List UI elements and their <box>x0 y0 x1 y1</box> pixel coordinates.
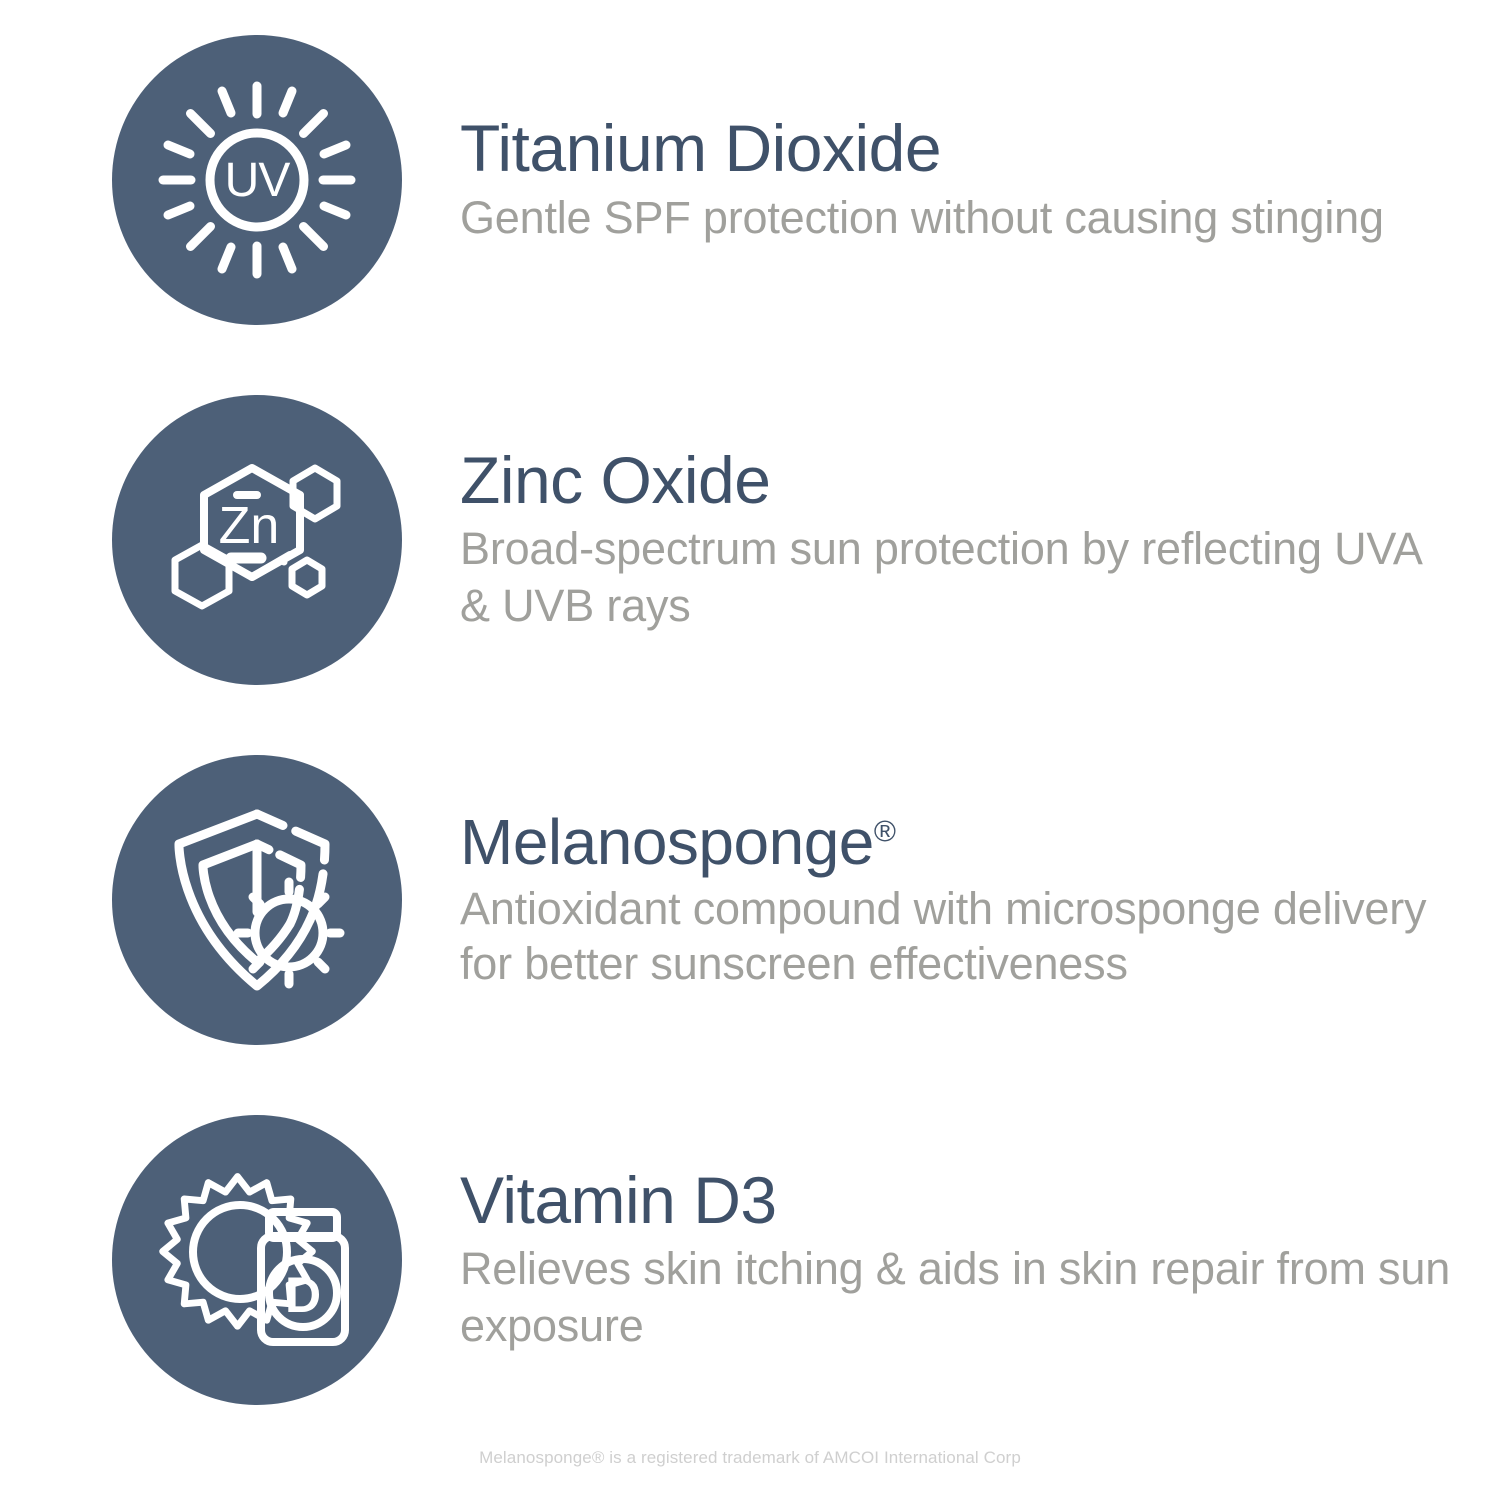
feature-title: Zinc Oxide <box>460 446 1460 515</box>
feature-text: Titanium Dioxide Gentle SPF protection w… <box>402 114 1424 246</box>
feature-description: Gentle SPF protection without causing st… <box>460 190 1384 246</box>
zinc-molecule-icon-badge: Zn <box>112 395 402 685</box>
feature-title-text: Melanosponge <box>460 806 874 878</box>
trademark-footnote: Melanosponge® is a registered trademark … <box>0 1448 1500 1468</box>
sun-supplement-bottle-icon: D <box>157 1160 357 1360</box>
feature-list: UV Titanium Dioxide Gentle SPF protectio… <box>0 0 1500 1440</box>
svg-text:Zn: Zn <box>219 497 280 555</box>
feature-row: Zn Zinc Oxide Broad-spectrum sun protect… <box>0 360 1500 720</box>
shield-sun-icon-badge <box>112 755 402 1045</box>
feature-row: UV Titanium Dioxide Gentle SPF protectio… <box>0 0 1500 360</box>
shield-sun-icon <box>157 800 357 1000</box>
sun-supplement-bottle-icon-badge: D <box>112 1115 402 1405</box>
feature-text: Melanosponge® Antioxidant compound with … <box>402 809 1500 992</box>
feature-row: Melanosponge® Antioxidant compound with … <box>0 720 1500 1080</box>
feature-title: Titanium Dioxide <box>460 114 1384 183</box>
feature-row: D Vitamin D3 Relieves skin itching & aid… <box>0 1080 1500 1440</box>
uv-sun-icon-badge: UV <box>112 35 402 325</box>
feature-description: Relieves skin itching & aids in skin rep… <box>460 1241 1460 1354</box>
feature-title: Vitamin D3 <box>460 1166 1460 1235</box>
svg-text:UV: UV <box>225 154 291 207</box>
feature-title-text: Zinc Oxide <box>460 443 770 517</box>
feature-text: Zinc Oxide Broad-spectrum sun protection… <box>402 446 1500 634</box>
feature-title-text: Titanium Dioxide <box>460 111 941 185</box>
zinc-molecule-icon: Zn <box>157 440 357 640</box>
uv-sun-icon: UV <box>157 80 357 280</box>
feature-title: Melanosponge® <box>460 809 1460 876</box>
feature-title-text: Vitamin D3 <box>460 1163 777 1237</box>
feature-text: Vitamin D3 Relieves skin itching & aids … <box>402 1166 1500 1354</box>
registered-mark: ® <box>874 815 896 848</box>
svg-text:D: D <box>285 1267 321 1323</box>
feature-description: Broad-spectrum sun protection by reflect… <box>460 521 1460 634</box>
feature-description: Antioxidant compound with microsponge de… <box>460 882 1460 992</box>
